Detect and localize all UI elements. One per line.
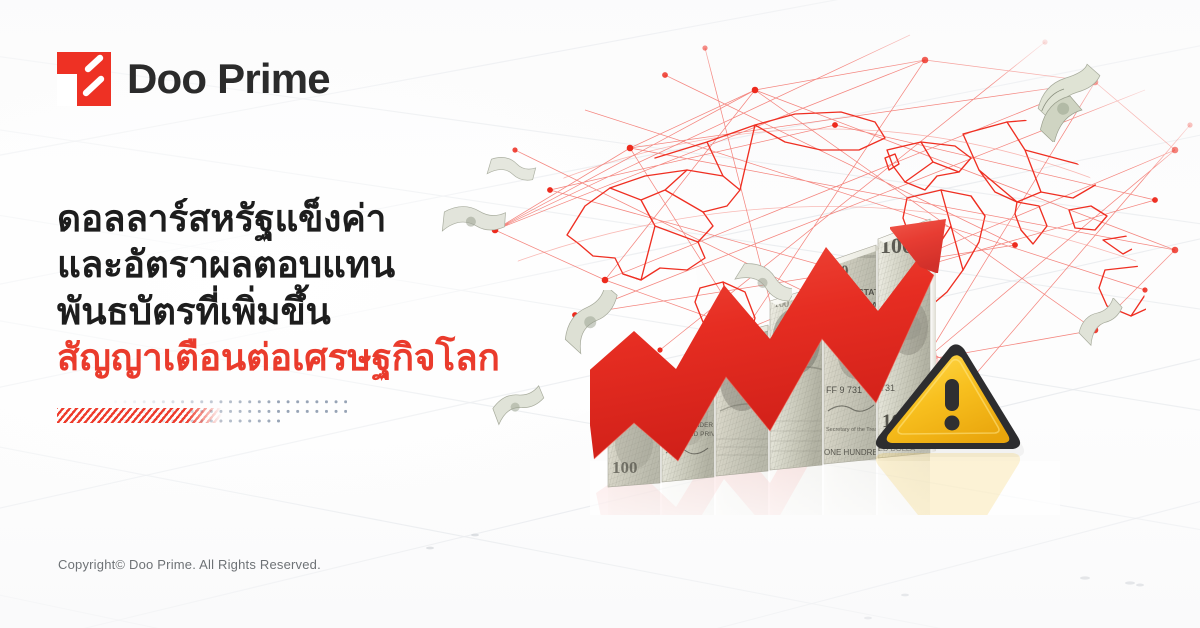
headline: ดอลลาร์สหรัฐแข็งค่า และอัตราผลตอบแทน พัน… [57,196,500,382]
floating-banknote-icon [556,290,634,362]
headline-line-1: ดอลลาร์สหรัฐแข็งค่า [57,196,500,242]
floating-banknote-icon [1018,52,1114,142]
headline-line-2: และอัตราผลตอบแทน [57,242,500,288]
banknote-bar-chart-icon: 100 100 LEGAL TENDER UBLIC AND PRIVAT [590,215,1060,515]
red-hatch-decoration [57,408,222,423]
floating-banknote-icon [488,382,552,438]
brand-name: Doo Prime [127,58,330,100]
headline-line-4: สัญญาเตือนต่อเศรษฐกิจโลก [57,335,500,381]
copyright-text: Copyright© Doo Prime. All Rights Reserve… [58,557,321,572]
svg-text:FF 9 731: FF 9 731 [826,385,862,395]
headline-line-3: พันธบัตรที่เพิ่มขึ้น [57,289,500,335]
doo-prime-mark-icon [57,52,111,106]
banner-canvas: 100 100 LEGAL TENDER UBLIC AND PRIVAT [0,0,1200,628]
brand-logo[interactable]: Doo Prime [57,52,330,106]
decorative-bar [57,397,347,431]
floating-banknote-icon [482,150,538,198]
floating-banknote-icon [1074,298,1136,352]
floating-banknote-icon [726,256,792,322]
svg-text:100: 100 [612,458,638,477]
